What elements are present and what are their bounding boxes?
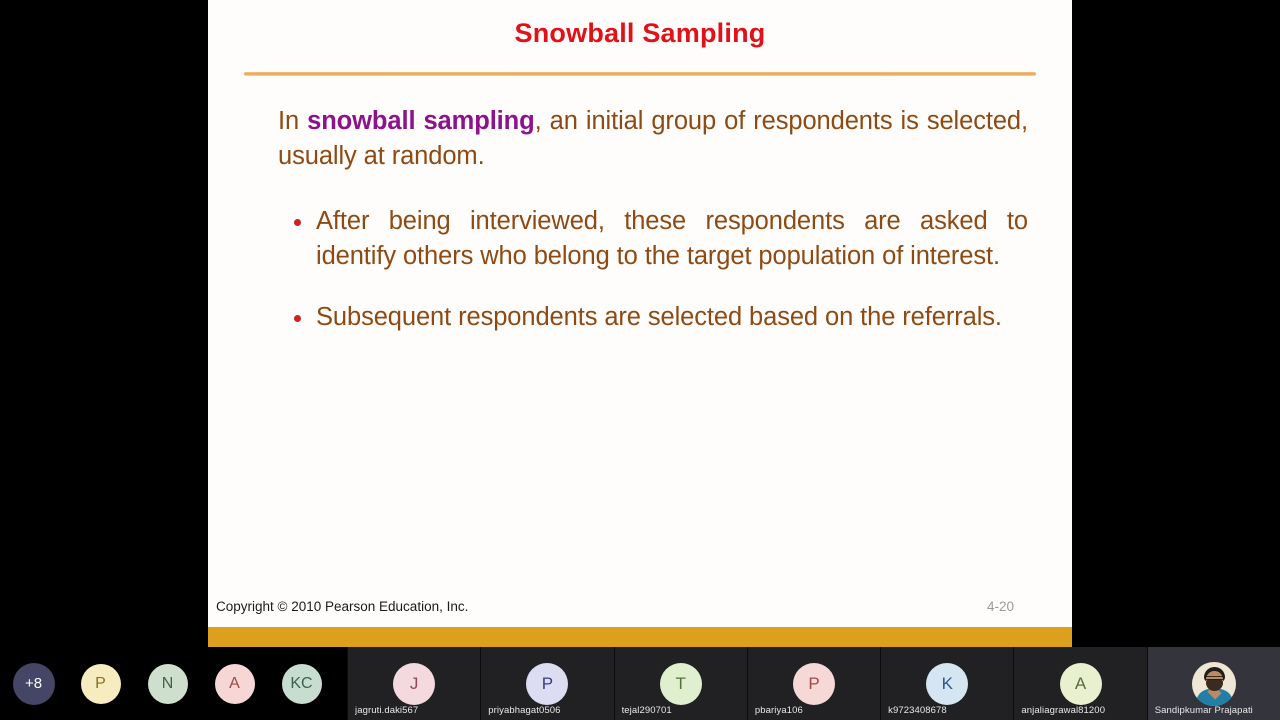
avatar: T — [660, 663, 702, 705]
overflow-count-badge[interactable]: +8 — [13, 663, 55, 705]
participant-tile[interactable]: P pbariya106 — [747, 647, 880, 720]
participant-name: Sandipkumar Prajapati — [1155, 705, 1253, 716]
glasses-icon — [1206, 676, 1223, 680]
participant-tile[interactable]: T tejal290701 — [614, 647, 747, 720]
avatar: P — [526, 663, 568, 705]
participant-name: tejal290701 — [622, 705, 672, 716]
title-divider-rule — [244, 72, 1036, 76]
slide-body: In snowball sampling, an initial group o… — [278, 104, 1028, 335]
overflow-avatar-slot[interactable]: P — [67, 664, 134, 704]
avatar: A — [1060, 663, 1102, 705]
participant-tile[interactable]: A anjaliagrawal81200 — [1013, 647, 1146, 720]
slide-footer: Copyright © 2010 Pearson Education, Inc.… — [208, 599, 1072, 627]
participant-tile[interactable]: P priyabhagat0506 — [480, 647, 613, 720]
avatar[interactable]: P — [81, 664, 121, 704]
avatar[interactable]: N — [148, 664, 188, 704]
slide-accent-bar — [208, 627, 1072, 647]
participant-name: k9723408678 — [888, 705, 947, 716]
photo-beard — [1206, 679, 1223, 691]
avatar-photo — [1192, 662, 1236, 706]
avatar: P — [793, 663, 835, 705]
avatar[interactable]: A — [215, 664, 255, 704]
participant-tile[interactable]: J jagruti.daki567 — [347, 647, 480, 720]
lead-paragraph: In snowball sampling, an initial group o… — [278, 104, 1028, 174]
participant-tile-active-speaker[interactable]: Sandipkumar Prajapati — [1147, 647, 1280, 720]
lead-text-before: In — [278, 107, 307, 135]
slide-title: Snowball Sampling — [208, 18, 1072, 49]
avatar[interactable]: KC — [282, 664, 322, 704]
overflow-avatar-slot[interactable]: N — [134, 664, 201, 704]
list-item: Subsequent respondents are selected base… — [278, 300, 1028, 335]
overflow-avatar-slot[interactable]: A — [201, 664, 268, 704]
participant-name: pbariya106 — [755, 705, 803, 716]
meeting-stage: Snowball Sampling In snowball sampling, … — [0, 0, 1280, 720]
overflow-avatar-slot[interactable]: KC — [268, 664, 335, 704]
avatar: J — [393, 663, 435, 705]
avatar: K — [926, 663, 968, 705]
overflow-participants-group[interactable]: +8 P N A KC — [0, 647, 347, 720]
participant-name: anjaliagrawal81200 — [1021, 705, 1105, 716]
list-item: After being interviewed, these responden… — [278, 204, 1028, 274]
lead-emphasis: snowball sampling — [307, 107, 535, 135]
overflow-count-slot[interactable]: +8 — [0, 663, 67, 705]
participant-name: priyabhagat0506 — [488, 705, 560, 716]
slide-number: 4-20 — [987, 599, 1014, 614]
bullet-list: After being interviewed, these responden… — [278, 204, 1028, 335]
participant-filmstrip[interactable]: +8 P N A KC J jagruti.daki567 P priyabha… — [0, 647, 1280, 720]
participant-name: jagruti.daki567 — [355, 705, 418, 716]
copyright-text: Copyright © 2010 Pearson Education, Inc. — [216, 599, 468, 614]
participant-tile[interactable]: K k9723408678 — [880, 647, 1013, 720]
shared-slide[interactable]: Snowball Sampling In snowball sampling, … — [208, 0, 1072, 647]
